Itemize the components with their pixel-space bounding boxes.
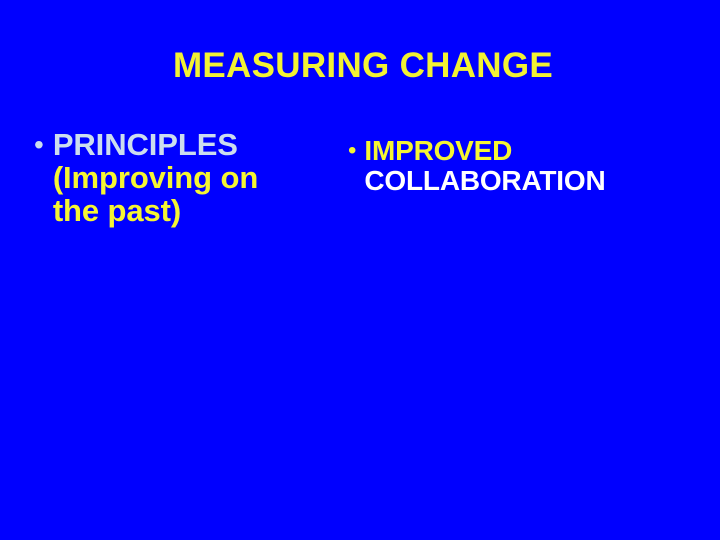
- bullet-group-collaboration: • IMPROVED COLLABORATION: [348, 136, 718, 196]
- bullet-text-block: IMPROVED COLLABORATION: [364, 136, 718, 196]
- bullet-item: • IMPROVED COLLABORATION: [348, 136, 718, 196]
- bullet-line-collaboration: COLLABORATION: [364, 166, 718, 196]
- bullet-text-block: PRINCIPLES (Improving on the past): [53, 128, 354, 227]
- bullet-group-principles: • PRINCIPLES (Improving on the past): [34, 128, 354, 227]
- presentation-slide: MEASURING CHANGE • PRINCIPLES (Improving…: [0, 0, 720, 540]
- bullet-item: • PRINCIPLES (Improving on the past): [34, 128, 354, 227]
- bullet-dot-icon: •: [348, 136, 364, 166]
- bullet-line-principles: PRINCIPLES: [53, 128, 354, 161]
- bullet-line-improved: IMPROVED: [364, 136, 718, 166]
- bullet-line-improving-on: (Improving on: [53, 161, 354, 194]
- bullet-dot-icon: •: [34, 128, 53, 161]
- slide-title: MEASURING CHANGE: [0, 45, 720, 87]
- bullet-line-the-past: the past): [53, 194, 354, 227]
